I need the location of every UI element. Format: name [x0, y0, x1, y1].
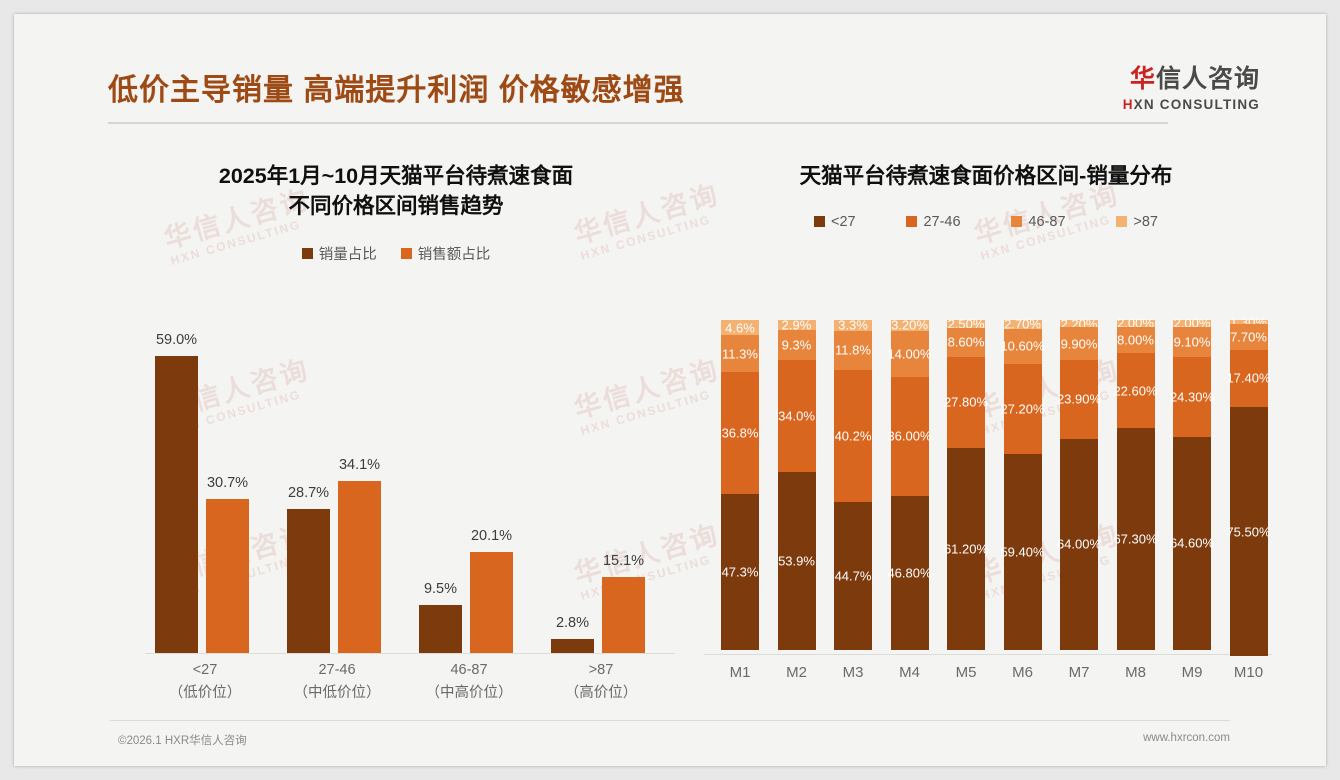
company-logo: 华信人咨询 HXN CONSULTING — [1123, 66, 1260, 112]
x-axis-label: M1 — [710, 664, 770, 681]
bar-value-label: 28.7% — [288, 485, 329, 501]
segment-value-label: 7.70% — [1230, 329, 1267, 344]
segment-value-label: 36.00% — [887, 429, 931, 444]
stacked-segment-27to46[interactable]: 27.80% — [947, 357, 985, 449]
legend-item-right-3[interactable]: >87 — [1116, 214, 1158, 230]
stacked-segment-27[interactable]: 59.40% — [1004, 454, 1042, 650]
stacked-segment-87[interactable]: 3.3% — [834, 320, 872, 331]
stacked-segment-87[interactable]: 2.00% — [1173, 320, 1211, 327]
segment-value-label: 17.40% — [1226, 371, 1270, 386]
stacked-segment-27to46[interactable]: 34.0% — [778, 360, 816, 472]
stacked-bar-column[interactable]: 2.00%8.00%22.60%67.30% — [1117, 320, 1155, 654]
bar-value-label: 15.1% — [603, 553, 644, 569]
left-chart-panel: 2025年1月~10月天猫平台待煮速食面 不同价格区间销售趋势 销量占比销售额占… — [110, 162, 682, 264]
legend-swatch-icon — [906, 216, 917, 227]
stacked-segment-27to46[interactable]: 24.30% — [1173, 357, 1211, 437]
page-title: 低价主导销量 高端提升利润 价格敏感增强 — [108, 65, 685, 109]
slide-header: 低价主导销量 高端提升利润 价格敏感增强 华信人咨询 HXN CONSULTIN… — [14, 60, 1326, 132]
legend-swatch-icon — [1116, 216, 1127, 227]
logo-cn-rest: 信人咨询 — [1156, 65, 1260, 93]
x-axis-label: 27-46（中低价位） — [272, 659, 402, 705]
bar-value-label: 59.0% — [156, 332, 197, 348]
legend-label: 46-87 — [1028, 214, 1065, 230]
x-axis-label: 46-87（中高价位） — [404, 659, 534, 705]
x-axis-label: <27（低价位） — [140, 659, 270, 705]
segment-value-label: 10.60% — [1000, 339, 1044, 354]
bar-value-label: 20.1% — [471, 528, 512, 544]
stacked-segment-27[interactable]: 61.20% — [947, 448, 985, 650]
stacked-segment-46to87[interactable]: 10.60% — [1004, 329, 1042, 364]
bar-sales-amount[interactable]: 15.1% — [602, 577, 645, 653]
bar-sales-volume[interactable]: 28.7% — [287, 509, 330, 653]
x-axis-label-range: 27-46 — [272, 659, 402, 682]
stacked-bar-column[interactable]: 3.3%11.8%40.2%44.7% — [834, 320, 872, 654]
segment-value-label: 11.3% — [722, 346, 758, 361]
logo-cn-accent: 华 — [1130, 65, 1156, 93]
segment-value-label: 47.3% — [722, 564, 759, 579]
segment-value-label: 59.40% — [1000, 544, 1044, 559]
stacked-bar-column[interactable]: 2.20%9.90%23.90%64.00% — [1060, 320, 1098, 654]
left-chart-title-line2: 不同价格区间销售趋势 — [110, 192, 682, 222]
stacked-segment-87[interactable]: 2.20% — [1060, 320, 1098, 327]
stacked-segment-87[interactable]: 4.6% — [721, 320, 759, 335]
legend-item-left-0[interactable]: 销量占比 — [302, 243, 377, 264]
segment-value-label: 11.8% — [835, 343, 871, 358]
legend-swatch-icon — [401, 248, 412, 259]
bar-group: 9.5%20.1% — [414, 314, 524, 653]
stacked-segment-27[interactable]: 75.50% — [1230, 407, 1268, 656]
x-axis-label-tier: （中高价位） — [404, 682, 534, 705]
segment-value-label: 9.90% — [1061, 336, 1098, 351]
stacked-segment-27to46[interactable]: 36.8% — [721, 372, 759, 493]
segment-value-label: 9.10% — [1174, 334, 1211, 349]
x-axis-label: M6 — [993, 664, 1053, 681]
stacked-segment-46to87[interactable]: 8.00% — [1117, 327, 1155, 353]
right-chart-panel: 天猫平台待煮速食面价格区间-销量分布 <2727-4646-87>87 — [700, 162, 1272, 230]
stacked-segment-87[interactable]: 2.50% — [947, 320, 985, 328]
legend-label: 27-46 — [923, 214, 960, 230]
logo-en-rest: XN CONSULTING — [1134, 97, 1260, 112]
stacked-segment-87[interactable]: 2.9% — [778, 320, 816, 330]
segment-value-label: 40.2% — [835, 429, 872, 444]
left-chart-title-line1: 2025年1月~10月天猫平台待煮速食面 — [110, 162, 682, 192]
bar-sales-volume[interactable]: 59.0% — [155, 356, 198, 653]
stacked-segment-46to87[interactable]: 8.60% — [947, 328, 985, 356]
x-axis-label: M3 — [823, 664, 883, 681]
bar-group: 2.8%15.1% — [546, 314, 656, 653]
legend-item-right-2[interactable]: 46-87 — [1011, 214, 1065, 230]
legend-swatch-icon — [1011, 216, 1022, 227]
x-axis-label-tier: （低价位） — [140, 682, 270, 705]
stacked-bar-column[interactable]: 3.20%14.00%36.00%46.80% — [891, 320, 929, 654]
legend-item-right-0[interactable]: <27 — [814, 214, 856, 230]
stacked-bar-chart: 4.6%11.3%36.8%47.3%2.9%9.3%34.0%53.9%3.3… — [704, 320, 1272, 655]
x-axis-label-range: 46-87 — [404, 659, 534, 682]
segment-value-label: 9.3% — [782, 337, 812, 352]
right-chart-legend: <2727-4646-87>87 — [700, 214, 1272, 230]
x-axis-label-tier: （高价位） — [536, 682, 666, 705]
stacked-segment-46to87[interactable]: 11.3% — [721, 335, 759, 372]
segment-value-label: 23.90% — [1057, 392, 1101, 407]
segment-value-label: 64.00% — [1057, 537, 1101, 552]
segment-value-label: 53.9% — [778, 554, 815, 569]
legend-swatch-icon — [814, 216, 825, 227]
x-axis-label: M2 — [767, 664, 827, 681]
bar-group: 59.0%30.7% — [150, 314, 260, 653]
header-divider — [108, 122, 1168, 124]
x-axis-line — [704, 654, 1272, 655]
segment-value-label: 44.7% — [835, 569, 872, 584]
stacked-bar-column[interactable]: 1.30%7.70%17.40%75.50% — [1230, 320, 1268, 654]
x-axis-label-range: <27 — [140, 659, 270, 682]
stacked-segment-27[interactable]: 46.80% — [891, 496, 929, 650]
stacked-bar-column[interactable]: 2.9%9.3%34.0%53.9% — [778, 320, 816, 654]
stacked-segment-87[interactable]: 3.20% — [891, 320, 929, 331]
stacked-bar-column[interactable]: 2.50%8.60%27.80%61.20% — [947, 320, 985, 654]
stacked-bar-column[interactable]: 2.00%9.10%24.30%64.60% — [1173, 320, 1211, 654]
stacked-segment-46to87[interactable]: 11.8% — [834, 331, 872, 370]
stacked-segment-87[interactable]: 2.70% — [1004, 320, 1042, 329]
bar-sales-amount[interactable]: 20.1% — [470, 552, 513, 653]
x-axis-label-tier: （中低价位） — [272, 682, 402, 705]
stacked-segment-27[interactable]: 64.00% — [1060, 439, 1098, 650]
stacked-segment-27[interactable]: 67.30% — [1117, 428, 1155, 650]
segment-value-label: 8.60% — [948, 335, 985, 350]
bar-value-label: 30.7% — [207, 475, 248, 491]
bar-group: 28.7%34.1% — [282, 314, 392, 653]
stacked-segment-87[interactable]: 2.00% — [1117, 320, 1155, 327]
legend-item-left-1[interactable]: 销售额占比 — [401, 243, 491, 264]
stacked-bar-column[interactable]: 4.6%11.3%36.8%47.3% — [721, 320, 759, 654]
stacked-segment-27[interactable]: 47.3% — [721, 494, 759, 650]
legend-item-right-1[interactable]: 27-46 — [906, 214, 960, 230]
legend-label: >87 — [1133, 214, 1158, 230]
legend-label: <27 — [831, 214, 856, 230]
x-axis-label-range: >87 — [536, 659, 666, 682]
segment-value-label: 14.00% — [887, 346, 931, 361]
segment-value-label: 67.30% — [1113, 531, 1157, 546]
logo-en-accent: H — [1123, 97, 1134, 112]
segment-value-label: 27.80% — [944, 395, 988, 410]
segment-value-label: 46.80% — [887, 565, 931, 580]
stacked-segment-27[interactable]: 44.7% — [834, 502, 872, 650]
segment-value-label: 75.50% — [1226, 524, 1270, 539]
segment-value-label: 61.20% — [944, 542, 988, 557]
left-chart-legend: 销量占比销售额占比 — [110, 243, 682, 264]
bar-value-label: 2.8% — [556, 615, 589, 631]
stacked-segment-27to46[interactable]: 17.40% — [1230, 350, 1268, 407]
x-axis-label: M8 — [1106, 664, 1166, 681]
bar-sales-amount[interactable]: 30.7% — [206, 499, 249, 653]
stacked-segment-46to87[interactable]: 7.70% — [1230, 324, 1268, 349]
stacked-segment-46to87[interactable]: 14.00% — [891, 331, 929, 377]
x-axis-label: >87（高价位） — [536, 659, 666, 705]
bar-value-label: 34.1% — [339, 457, 380, 473]
segment-value-label: 27.20% — [1000, 401, 1044, 416]
footer-copyright: ©2026.1 HXR华信人咨询 — [118, 732, 247, 748]
stacked-segment-46to87[interactable]: 9.10% — [1173, 327, 1211, 357]
stacked-segment-27to46[interactable]: 27.20% — [1004, 364, 1042, 454]
grouped-bar-chart: 59.0%30.7%28.7%34.1%9.5%20.1%2.8%15.1% — [110, 314, 682, 654]
x-axis-label: M4 — [880, 664, 940, 681]
x-axis-line — [145, 653, 675, 654]
x-axis-label: M10 — [1219, 664, 1279, 681]
segment-value-label: 64.60% — [1170, 536, 1214, 551]
legend-label: 销量占比 — [319, 243, 377, 264]
legend-swatch-icon — [302, 248, 313, 259]
bar-value-label: 9.5% — [424, 581, 457, 597]
segment-value-label: 34.0% — [778, 409, 815, 424]
bar-sales-volume[interactable]: 2.8% — [551, 639, 594, 653]
legend-label: 销售额占比 — [418, 243, 491, 264]
segment-value-label: 4.6% — [725, 320, 755, 335]
stacked-segment-46to87[interactable]: 9.3% — [778, 330, 816, 361]
segment-value-label: 8.00% — [1117, 333, 1154, 348]
slide-canvas: 华信人咨询HXN CONSULTING 华信人咨询HXN CONSULTING … — [14, 14, 1326, 766]
x-axis-label: M9 — [1162, 664, 1222, 681]
stacked-segment-27to46[interactable]: 23.90% — [1060, 360, 1098, 439]
segment-value-label: 36.8% — [722, 426, 759, 441]
footer-divider — [110, 720, 1230, 721]
bar-sales-volume[interactable]: 9.5% — [419, 605, 462, 653]
footer-website: www.hxrcon.com — [1143, 732, 1230, 744]
right-chart-title: 天猫平台待煮速食面价格区间-销量分布 — [700, 162, 1272, 192]
stacked-segment-27[interactable]: 53.9% — [778, 472, 816, 650]
bar-sales-amount[interactable]: 34.1% — [338, 481, 381, 653]
stacked-bar-column[interactable]: 2.70%10.60%27.20%59.40% — [1004, 320, 1042, 654]
stacked-segment-27to46[interactable]: 22.60% — [1117, 353, 1155, 428]
segment-value-label: 24.30% — [1170, 389, 1214, 404]
stacked-segment-46to87[interactable]: 9.90% — [1060, 327, 1098, 360]
stacked-segment-27to46[interactable]: 40.2% — [834, 370, 872, 503]
left-chart-title: 2025年1月~10月天猫平台待煮速食面 不同价格区间销售趋势 — [110, 162, 682, 221]
stacked-segment-27to46[interactable]: 36.00% — [891, 377, 929, 496]
x-axis-label: M5 — [936, 664, 996, 681]
segment-value-label: 22.60% — [1113, 383, 1157, 398]
stacked-segment-27[interactable]: 64.60% — [1173, 437, 1211, 650]
x-axis-label: M7 — [1049, 664, 1109, 681]
